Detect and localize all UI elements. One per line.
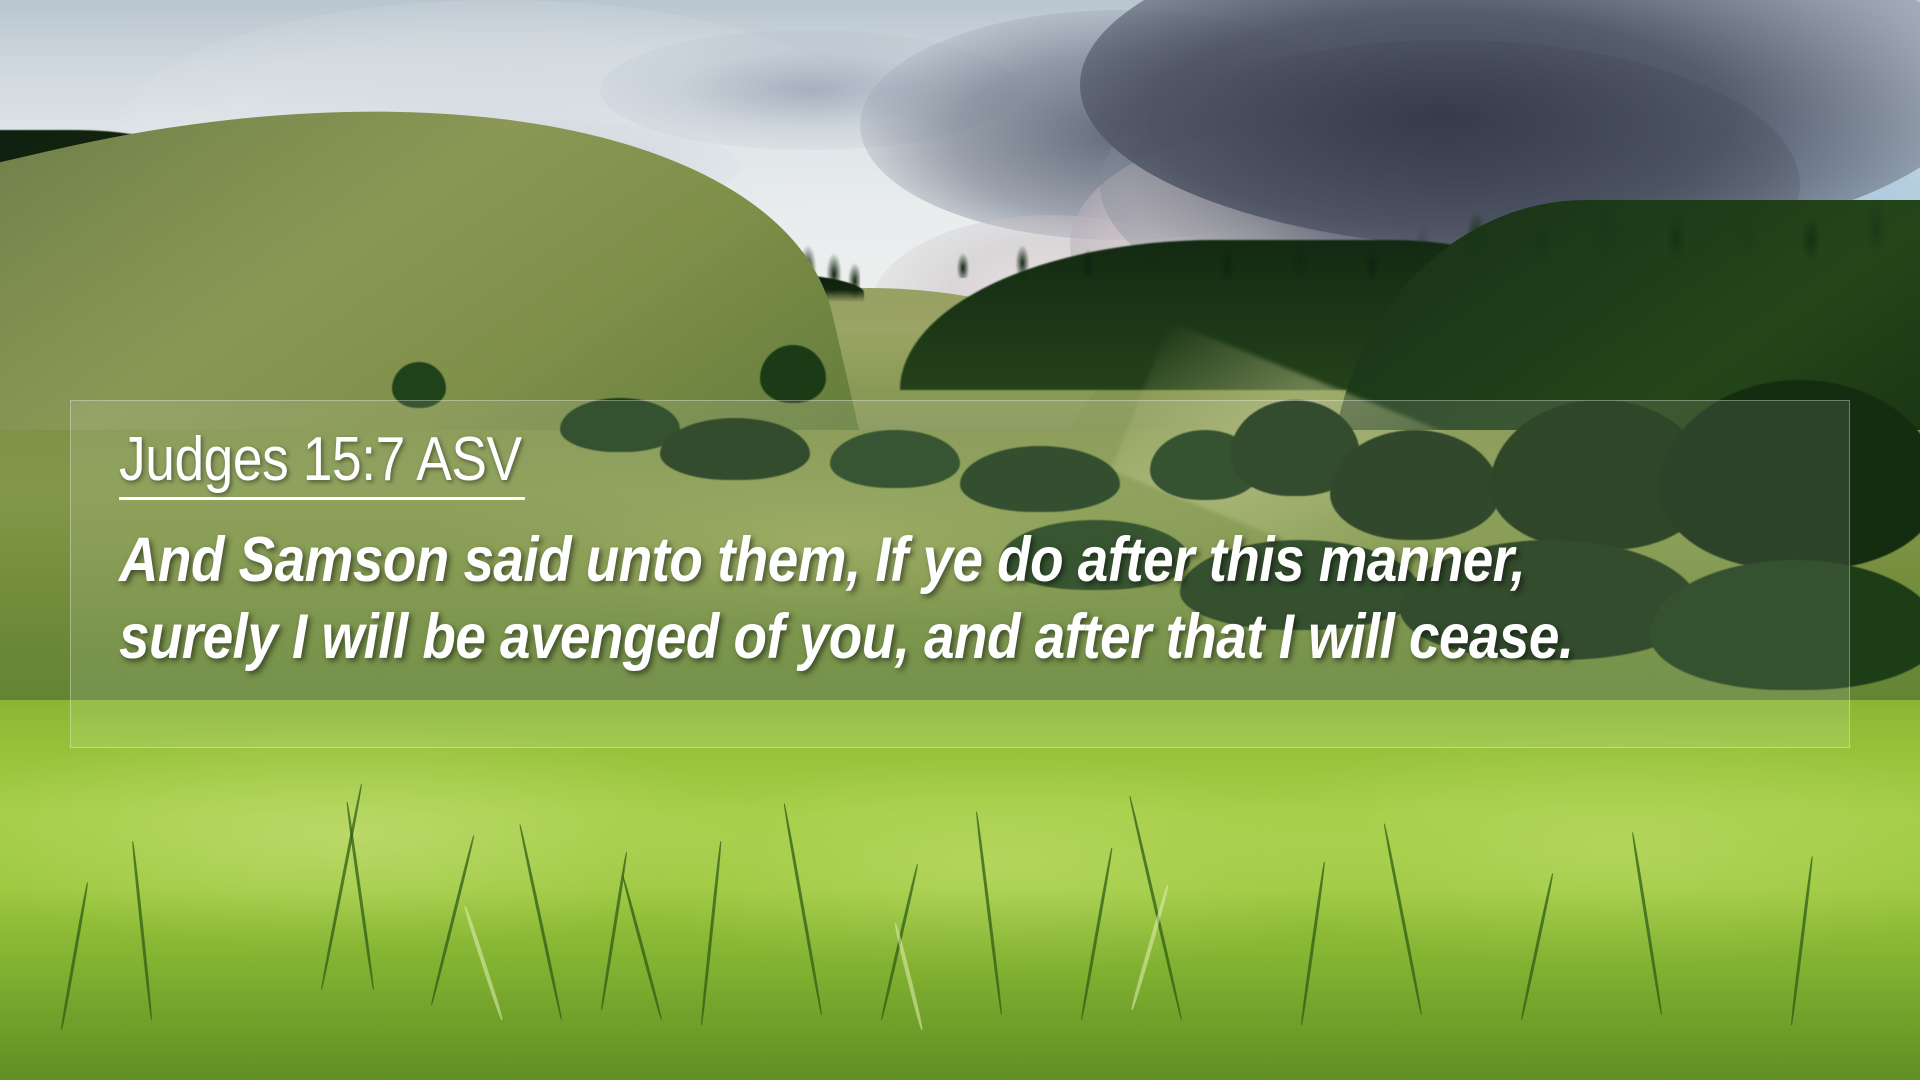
verse-text-line-1: And Samson said unto them, If ye do afte… (119, 525, 1525, 595)
right-forest-treetops (1390, 196, 1920, 266)
foreground-meadow-shadow (0, 890, 1920, 1080)
verse-overlay-panel: Judges 15:7 ASV And Samson said unto the… (70, 400, 1850, 748)
verse-text: And Samson said unto them, If ye do afte… (119, 522, 1582, 676)
verse-text-line-2: surely I will be avenged of you, and aft… (119, 602, 1574, 672)
wallpaper-scene: Judges 15:7 ASV And Samson said unto the… (0, 0, 1920, 1080)
bush-cluster (760, 345, 826, 403)
verse-reference: Judges 15:7 ASV (119, 429, 525, 500)
